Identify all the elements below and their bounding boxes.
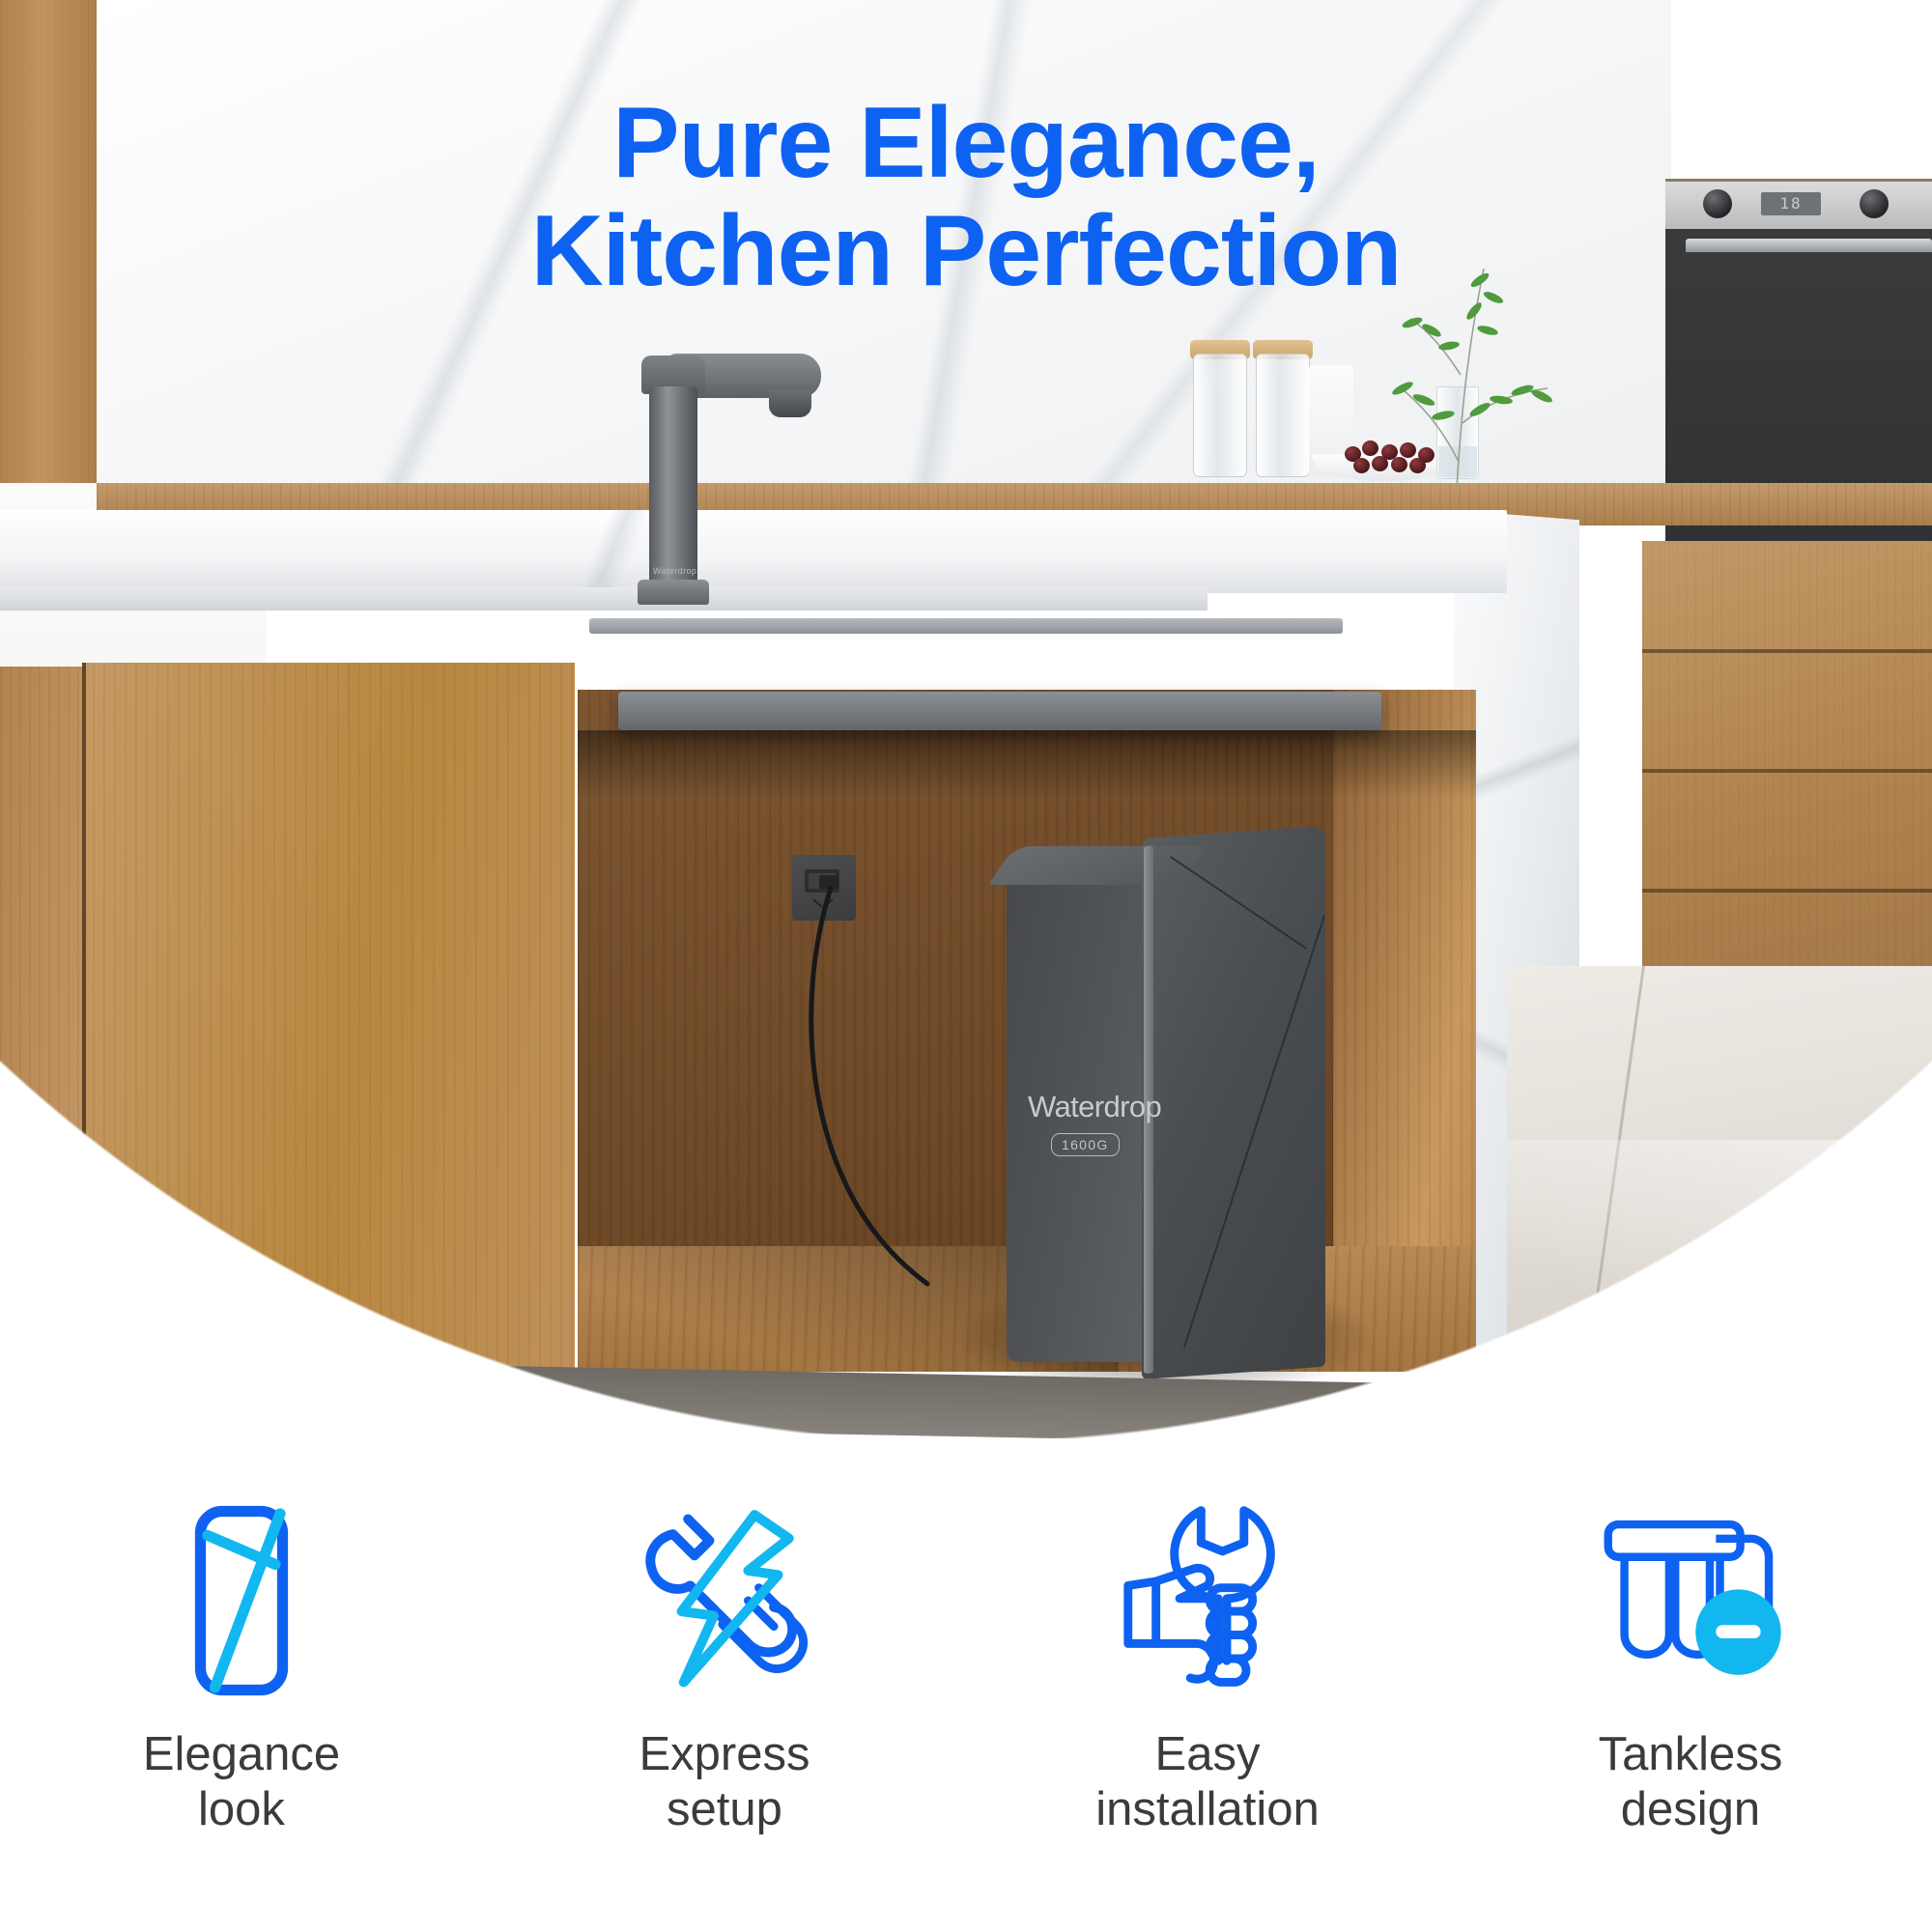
faucet-base xyxy=(638,580,709,605)
headline-line-1: Pure Elegance, xyxy=(612,87,1320,199)
feature-label-line-2: design xyxy=(1621,1783,1760,1835)
feature-label-line-2: look xyxy=(198,1783,285,1835)
wrench-screwdriver-bolt-icon xyxy=(628,1499,821,1702)
faucet-spout xyxy=(769,390,811,417)
feature-label-line-2: setup xyxy=(667,1783,782,1835)
feature-label: Elegance look xyxy=(143,1727,340,1838)
feature-item-tankless-design: Tankless design xyxy=(1449,1499,1932,1838)
right-cabinetry xyxy=(1642,541,1932,995)
countertop-front-edge xyxy=(0,587,1207,611)
cabinet-top-shadow xyxy=(578,730,1476,798)
model-badge: 1600G xyxy=(1051,1133,1120,1156)
faucet-column xyxy=(649,386,697,589)
feature-item-express-setup: Express setup xyxy=(483,1499,966,1838)
feature-label: Easy installation xyxy=(1095,1727,1320,1838)
appliance-top-face xyxy=(988,846,1207,885)
feature-label-line-2: installation xyxy=(1095,1783,1320,1835)
headline-line-2: Kitchen Perfection xyxy=(0,197,1932,305)
glass-jar xyxy=(1193,354,1247,477)
feature-label: Express setup xyxy=(639,1727,810,1838)
cabinet-door-center[interactable] xyxy=(82,663,575,1378)
feature-item-elegance-look: Elegance look xyxy=(0,1499,483,1838)
glass-jar xyxy=(1256,354,1310,477)
appliance-front-face xyxy=(1142,826,1325,1379)
marble-countertop xyxy=(0,510,1507,593)
feature-item-easy-installation: Easy installation xyxy=(966,1499,1449,1838)
sink-rim xyxy=(589,618,1343,634)
cabinet-metal-lip xyxy=(618,692,1381,730)
feature-label-line-1: Express xyxy=(639,1728,810,1780)
cabinet-seam xyxy=(1642,769,1932,773)
feature-label: Tankless design xyxy=(1599,1727,1783,1838)
feature-label-line-1: Easy xyxy=(1155,1728,1261,1780)
faucet-brand-label: Waterdrop xyxy=(653,566,696,578)
product-marketing-banner: 18 xyxy=(0,0,1932,1932)
page-title: Pure Elegance, Kitchen Perfection xyxy=(0,89,1932,306)
feature-row: Elegance look xyxy=(0,1499,1932,1838)
cabinet-door-left[interactable] xyxy=(0,667,82,1372)
floor-reflection xyxy=(1507,1140,1932,1449)
outlet-prong-icon xyxy=(811,898,835,910)
feature-label-line-1: Elegance xyxy=(143,1728,340,1780)
door-seam xyxy=(82,663,86,1378)
waterdrop-ro-unit: Waterdrop 1600G xyxy=(1007,838,1325,1379)
power-plug xyxy=(819,875,838,889)
hand-holding-wrench-icon xyxy=(1111,1499,1304,1702)
appliance-outline-icon xyxy=(145,1499,338,1702)
cabinet-seam xyxy=(1642,649,1932,653)
brand-logo: Waterdrop xyxy=(1028,1090,1153,1124)
cabinet-seam xyxy=(1642,889,1932,893)
feature-label-line-1: Tankless xyxy=(1599,1728,1783,1780)
filter-cartridges-minus-icon xyxy=(1594,1499,1787,1702)
